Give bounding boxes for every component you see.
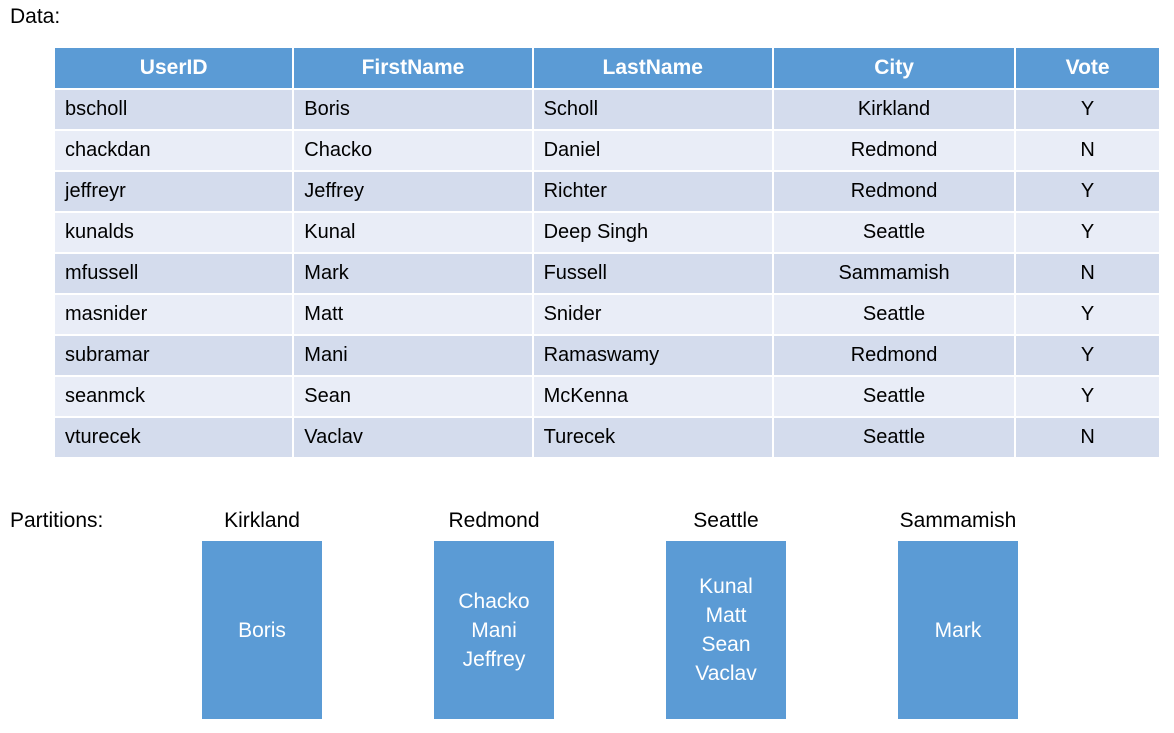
partition-box: Mark (898, 541, 1018, 719)
table-cell-lastname: Ramaswamy (534, 336, 772, 375)
partition-box: Boris (202, 541, 322, 719)
table-body: bschollBorisSchollKirklandYchackdanChack… (55, 90, 1159, 457)
table-cell-lastname: Deep Singh (534, 213, 772, 252)
partition-box: KunalMattSeanVaclav (666, 541, 786, 719)
column-header-vote: Vote (1016, 48, 1159, 88)
column-header-lastname: LastName (534, 48, 772, 88)
table-cell-city: Sammamish (774, 254, 1014, 293)
table-cell-city: Kirkland (774, 90, 1014, 129)
table-row: kunaldsKunalDeep SinghSeattleY (55, 213, 1159, 252)
table-cell-firstname: Mani (294, 336, 531, 375)
table-row: seanmckSeanMcKennaSeattleY (55, 377, 1159, 416)
partition-member: Kunal (699, 572, 753, 601)
diagram-canvas: Data: UserID FirstName LastName City Vot… (0, 0, 1174, 733)
table-cell-userid: masnider (55, 295, 292, 334)
partition-title: Seattle (626, 508, 826, 534)
table-row: subramarManiRamaswamyRedmondY (55, 336, 1159, 375)
table-cell-city: Redmond (774, 172, 1014, 211)
table-cell-vote: N (1016, 418, 1159, 457)
table-cell-lastname: Turecek (534, 418, 772, 457)
table-row: vturecekVaclavTurecekSeattleN (55, 418, 1159, 457)
table-cell-userid: chackdan (55, 131, 292, 170)
table-cell-userid: bscholl (55, 90, 292, 129)
data-section-label: Data: (10, 4, 60, 30)
table-cell-lastname: McKenna (534, 377, 772, 416)
table-cell-vote: Y (1016, 377, 1159, 416)
table-cell-vote: Y (1016, 336, 1159, 375)
column-header-city: City (774, 48, 1014, 88)
table-cell-vote: Y (1016, 172, 1159, 211)
table-cell-firstname: Jeffrey (294, 172, 531, 211)
table-cell-lastname: Scholl (534, 90, 772, 129)
table-cell-userid: kunalds (55, 213, 292, 252)
partition-box: ChackoManiJeffrey (434, 541, 554, 719)
table-row: jeffreyrJeffreyRichterRedmondY (55, 172, 1159, 211)
table-cell-userid: subramar (55, 336, 292, 375)
table-cell-lastname: Richter (534, 172, 772, 211)
table-cell-city: Seattle (774, 295, 1014, 334)
partition-member: Matt (706, 601, 747, 630)
partitions-section-label: Partitions: (10, 508, 103, 534)
table-cell-firstname: Matt (294, 295, 531, 334)
table-header: UserID FirstName LastName City Vote (55, 48, 1159, 88)
table-cell-vote: Y (1016, 90, 1159, 129)
table-cell-firstname: Chacko (294, 131, 531, 170)
table-cell-lastname: Snider (534, 295, 772, 334)
table-cell-userid: jeffreyr (55, 172, 292, 211)
table-cell-firstname: Boris (294, 90, 531, 129)
partition-title: Redmond (394, 508, 594, 534)
table-cell-lastname: Daniel (534, 131, 772, 170)
column-header-userid: UserID (55, 48, 292, 88)
table-header-row: UserID FirstName LastName City Vote (55, 48, 1159, 88)
partition-member: Chacko (458, 587, 529, 616)
table-cell-city: Redmond (774, 131, 1014, 170)
table-cell-city: Seattle (774, 418, 1014, 457)
partition-member: Jeffrey (463, 645, 526, 674)
table-cell-vote: Y (1016, 295, 1159, 334)
partition-member: Mani (471, 616, 517, 645)
partition-member: Sean (701, 630, 750, 659)
table-cell-city: Seattle (774, 377, 1014, 416)
table-row: bschollBorisSchollKirklandY (55, 90, 1159, 129)
partition-member: Vaclav (695, 659, 756, 688)
table-cell-firstname: Vaclav (294, 418, 531, 457)
table-cell-firstname: Kunal (294, 213, 531, 252)
partition-title: Sammamish (858, 508, 1058, 534)
partition-member: Boris (238, 616, 286, 645)
table-row: mfussellMarkFussellSammamishN (55, 254, 1159, 293)
table-cell-firstname: Mark (294, 254, 531, 293)
table-cell-lastname: Fussell (534, 254, 772, 293)
partition-title: Kirkland (162, 508, 362, 534)
table-cell-userid: seanmck (55, 377, 292, 416)
table-cell-firstname: Sean (294, 377, 531, 416)
table-cell-vote: Y (1016, 213, 1159, 252)
table-cell-city: Redmond (774, 336, 1014, 375)
table-cell-userid: mfussell (55, 254, 292, 293)
user-data-table: UserID FirstName LastName City Vote bsch… (53, 46, 1161, 459)
table-row: masniderMattSniderSeattleY (55, 295, 1159, 334)
table-row: chackdanChackoDanielRedmondN (55, 131, 1159, 170)
partition-member: Mark (935, 616, 982, 645)
table-cell-vote: N (1016, 131, 1159, 170)
table-cell-vote: N (1016, 254, 1159, 293)
table-cell-userid: vturecek (55, 418, 292, 457)
column-header-firstname: FirstName (294, 48, 531, 88)
table-cell-city: Seattle (774, 213, 1014, 252)
